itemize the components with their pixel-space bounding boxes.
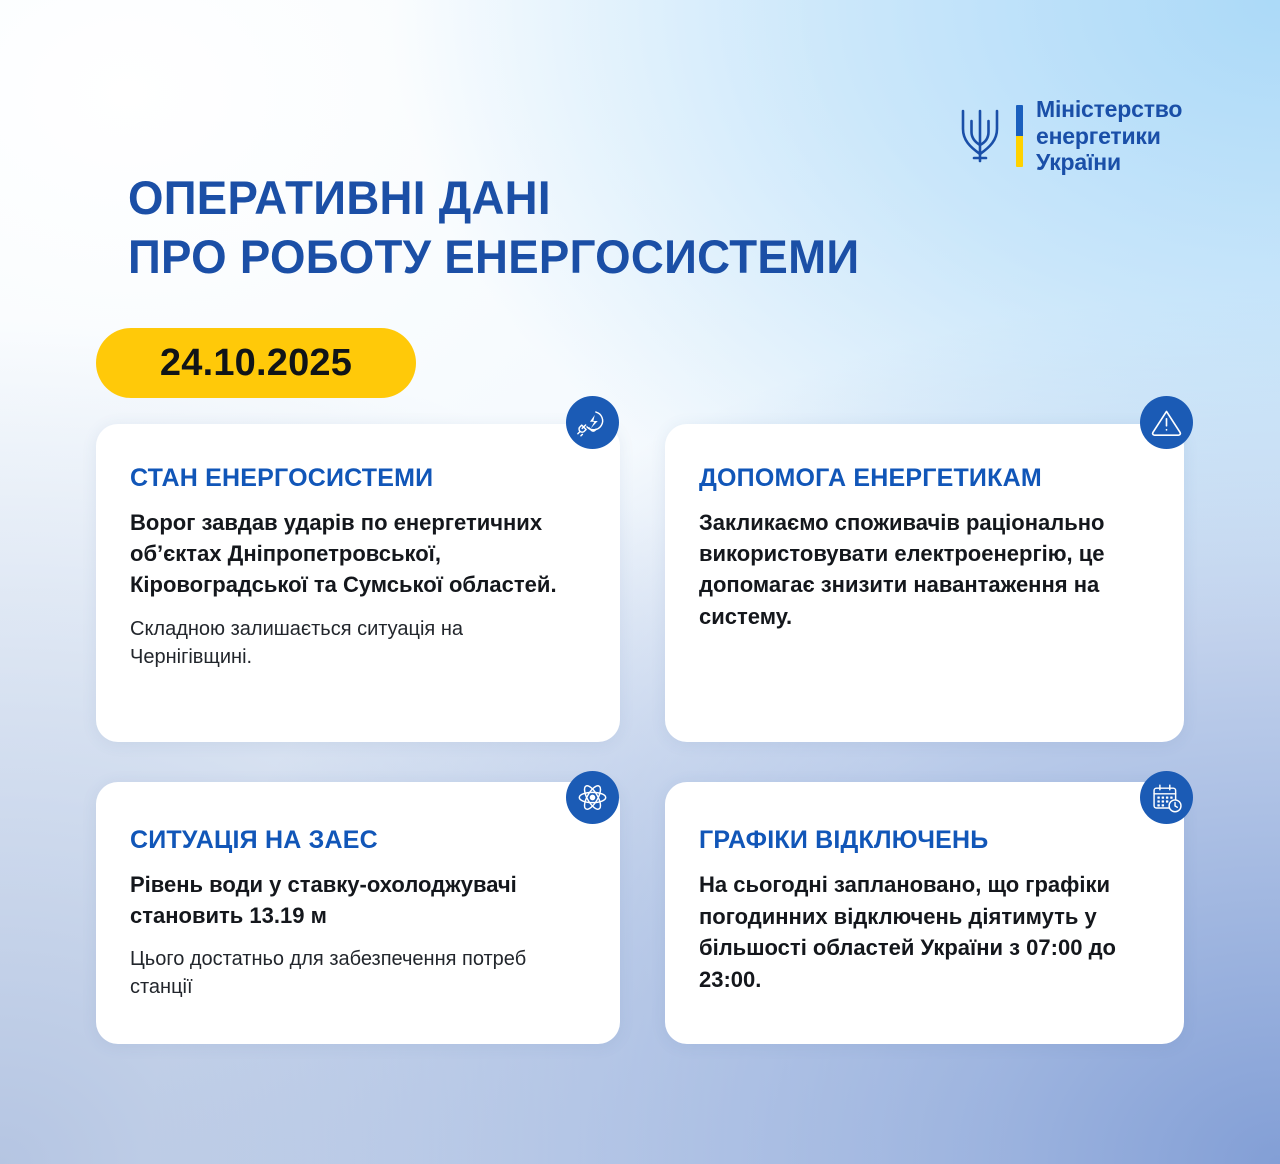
- flag-divider: [1016, 105, 1023, 167]
- card-help-energy-workers: ДОПОМОГА ЕНЕРГЕТИКАМ Закликаємо споживач…: [665, 424, 1184, 742]
- date-value: 24.10.2025: [160, 342, 352, 385]
- card-body-text: Ворог завдав ударів по енергетичних об’є…: [130, 507, 586, 601]
- card-heading: ГРАФІКИ ВІДКЛЮЧЕНЬ: [699, 826, 1184, 855]
- page-title: ОПЕРАТИВНІ ДАНІ ПРО РОБОТУ ЕНЕРГОСИСТЕМИ: [128, 168, 859, 286]
- ministry-logo: Міністерство енергетики України: [957, 96, 1182, 176]
- card-heading: СИТУАЦІЯ НА ЗАЕС: [130, 826, 620, 855]
- card-zaes-situation: СИТУАЦІЯ НА ЗАЕС Рівень води у ставку-ох…: [96, 782, 620, 1044]
- card-heading: ДОПОМОГА ЕНЕРГЕТИКАМ: [699, 464, 1184, 493]
- date-badge: 24.10.2025: [96, 328, 416, 398]
- page-title-line2: ПРО РОБОТУ ЕНЕРГОСИСТЕМИ: [128, 227, 859, 286]
- card-body-text: Рівень води у ставку-охолоджувачі станов…: [130, 869, 586, 931]
- ministry-name-line1: Міністерство: [1036, 96, 1182, 123]
- page-title-line1: ОПЕРАТИВНІ ДАНІ: [128, 171, 551, 224]
- card-note-text: Складною залишається ситуація на Чернігі…: [130, 615, 586, 671]
- card-outage-schedules: ГРАФІКИ ВІДКЛЮЧЕНЬ На сьогодні запланова…: [665, 782, 1184, 1044]
- card-energy-system-status: СТАН ЕНЕРГОСИСТЕМИ Ворог завдав ударів п…: [96, 424, 620, 742]
- atom-icon: [566, 771, 619, 824]
- ministry-name-line3: України: [1036, 149, 1182, 176]
- infographic-page: Міністерство енергетики України ОПЕРАТИВ…: [0, 0, 1280, 1164]
- ministry-name-line2: енергетики: [1036, 123, 1182, 150]
- card-note-text: Цього достатньо для забезпечення потреб …: [130, 945, 586, 1001]
- card-heading: СТАН ЕНЕРГОСИСТЕМИ: [130, 464, 620, 493]
- calendar-clock-icon: [1140, 771, 1193, 824]
- ministry-name: Міністерство енергетики України: [1036, 96, 1182, 176]
- card-body-text: Закликаємо споживачів раціонально викори…: [699, 507, 1150, 632]
- card-body-text: На сьогодні заплановано, що графіки пого…: [699, 869, 1150, 996]
- warning-triangle-icon: [1140, 396, 1193, 449]
- ukraine-tryzub-icon: [957, 105, 1003, 167]
- bulb-bolt-plug-icon: [566, 396, 619, 449]
